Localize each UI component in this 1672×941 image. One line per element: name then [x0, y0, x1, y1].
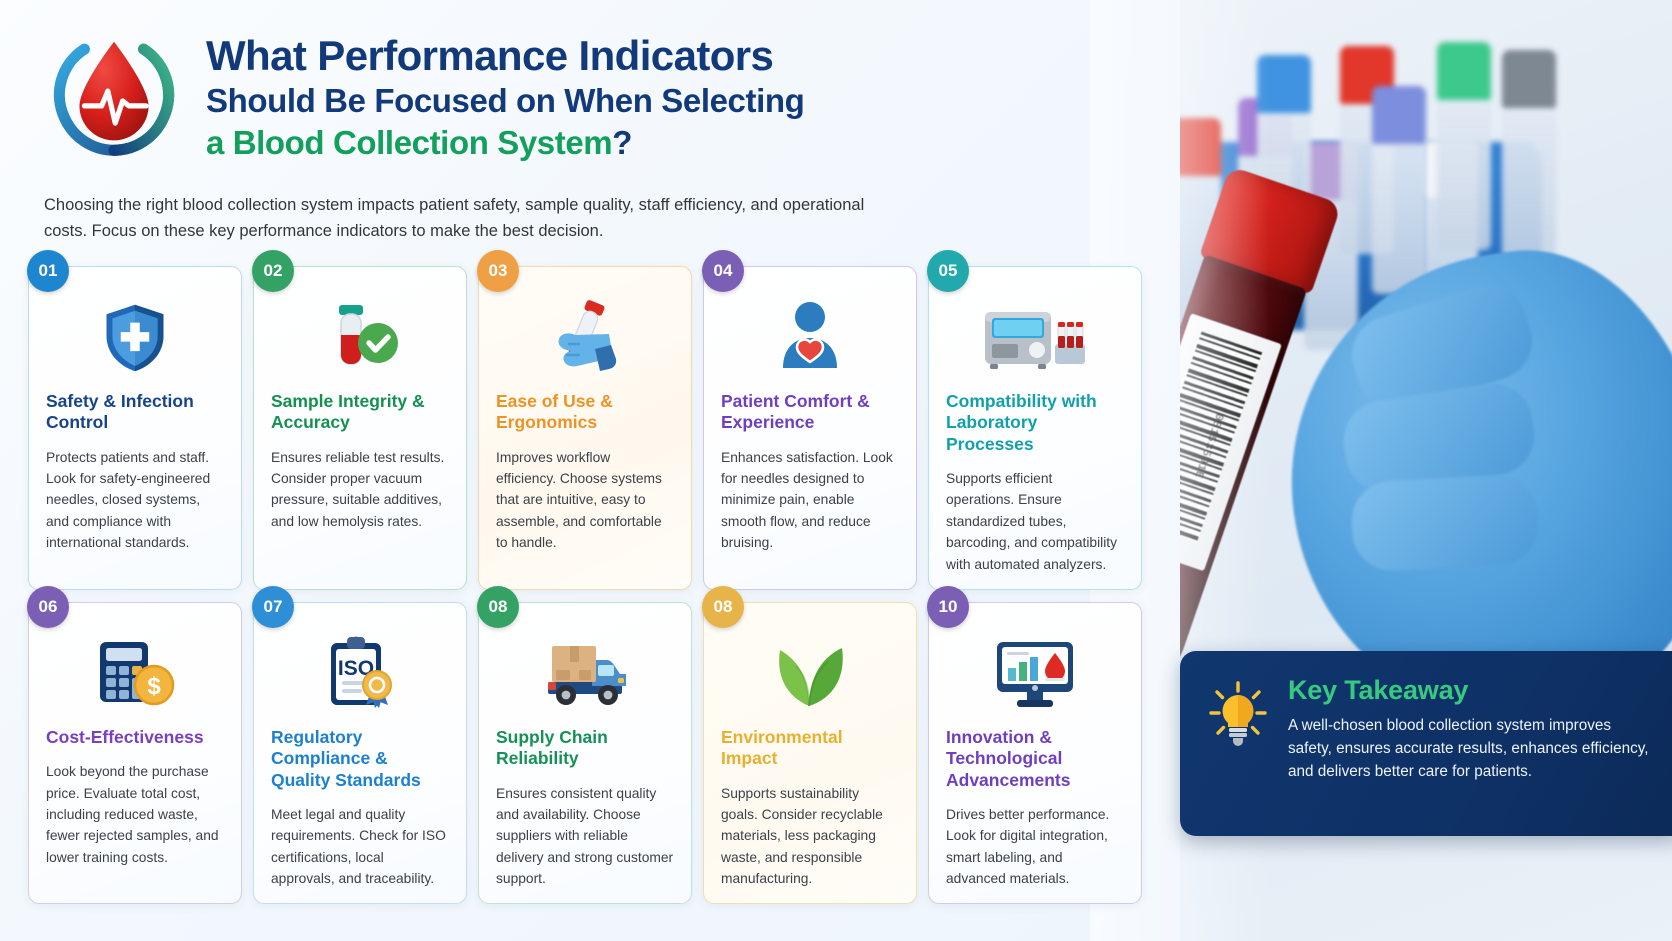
- card-badge-number: 10: [927, 586, 969, 628]
- indicator-row-1: 01 Safety & Infection Control Protects p…: [28, 266, 1153, 590]
- page-title-line1: What Performance Indicators: [206, 34, 804, 79]
- page-title-question-mark: ?: [612, 124, 632, 161]
- card-title: Sample Integrity & Accuracy: [271, 391, 449, 434]
- blood-drop-heartbeat-logo-icon: [40, 22, 188, 170]
- shield-medical-cross-icon: [46, 299, 224, 377]
- card-body: Drives better performance. Look for digi…: [946, 804, 1124, 890]
- svg-text:$: $: [147, 673, 161, 700]
- card-title: Compatibility with Laboratory Processes: [946, 391, 1124, 455]
- glove-finger-3: [1350, 473, 1540, 573]
- indicator-row-2: 06 $: [28, 602, 1153, 905]
- card-body: Supports efficient operations. Ensure st…: [946, 468, 1124, 575]
- indicator-card-09[interactable]: 08 Environmental Impact Supports sustain…: [703, 602, 917, 905]
- tube-periwinkle-1: [1372, 86, 1426, 294]
- card-badge-number: 05: [927, 250, 969, 292]
- lightbulb-icon: [1208, 675, 1270, 816]
- card-body: Enhances satisfaction. Look for needles …: [721, 447, 899, 554]
- lab-analyzer-tubes-icon: [946, 299, 1124, 377]
- card-title: Ease of Use & Ergonomics: [496, 391, 674, 434]
- monitor-chart-blooddrop-icon: [946, 635, 1124, 713]
- card-title: Safety & Infection Control: [46, 391, 224, 434]
- indicator-card-06[interactable]: 06 $: [28, 602, 242, 905]
- key-takeaway-body: A well-chosen blood collection system im…: [1288, 715, 1654, 784]
- card-body: Meet legal and quality requirements. Che…: [271, 804, 449, 890]
- card-body: Ensures reliable test results. Consider …: [271, 447, 449, 533]
- card-badge-number: 06: [27, 586, 69, 628]
- key-takeaway-heading: Key Takeaway: [1288, 675, 1654, 706]
- key-takeaway-text-block: Key Takeaway A well-chosen blood collect…: [1288, 675, 1654, 816]
- blood-tube-check-icon: [271, 299, 449, 377]
- card-body: Look beyond the purchase price. Evaluate…: [46, 761, 224, 868]
- person-heart-icon: [721, 299, 899, 377]
- gloved-hand-tube-icon: [496, 299, 674, 377]
- card-badge-number: 02: [252, 250, 294, 292]
- intro-paragraph: Choosing the right blood collection syst…: [44, 193, 904, 244]
- tube-green-1: [1437, 42, 1491, 250]
- key-takeaway-panel: Key Takeaway A well-chosen blood collect…: [1180, 651, 1672, 836]
- card-title: Innovation & Technological Advancements: [946, 727, 1124, 791]
- page-title-line3-green: a Blood Collection System: [206, 124, 612, 161]
- card-title: Environmental Impact: [721, 727, 899, 770]
- card-body: Ensures consistent quality and availabil…: [496, 783, 674, 890]
- indicator-card-08[interactable]: 08 Supply: [478, 602, 692, 905]
- card-badge-number: 04: [702, 250, 744, 292]
- indicator-card-10[interactable]: 10 Innova: [928, 602, 1142, 905]
- card-title: Cost-Effectiveness: [46, 727, 224, 748]
- card-body: Protects patients and staff. Look for sa…: [46, 447, 224, 554]
- card-badge-number: 07: [252, 586, 294, 628]
- indicator-card-02[interactable]: 02 Sample Integrity & Accuracy Ensures r…: [253, 266, 467, 590]
- tube-gray-1: [1502, 50, 1556, 258]
- header: What Performance Indicators Should Be Fo…: [40, 22, 940, 170]
- indicator-card-01[interactable]: 01 Safety & Infection Control Protects p…: [28, 266, 242, 590]
- page-title-line3: a Blood Collection System?: [206, 124, 804, 163]
- card-title: Regulatory Compliance & Quality Standard…: [271, 727, 449, 791]
- delivery-truck-box-icon: [496, 635, 674, 713]
- card-badge-number: 01: [27, 250, 69, 292]
- indicator-card-04[interactable]: 04 Patient Comfort & Experience Enhances…: [703, 266, 917, 590]
- card-title: Supply Chain Reliability: [496, 727, 674, 770]
- card-badge-number: 03: [477, 250, 519, 292]
- card-body: Supports sustainability goals. Consider …: [721, 783, 899, 890]
- page-title-line2: Should Be Focused on When Selecting: [206, 82, 804, 121]
- indicator-card-03[interactable]: 03 Ease of Use & Ergonomics Improv: [478, 266, 692, 590]
- iso-clipboard-badge-icon: ISO: [271, 635, 449, 713]
- card-badge-number: 08: [702, 586, 744, 628]
- card-body: Improves workflow efficiency. Choose sys…: [496, 447, 674, 554]
- indicator-card-05[interactable]: 05: [928, 266, 1142, 590]
- title-block: What Performance Indicators Should Be Fo…: [206, 22, 804, 170]
- green-leaves-icon: [721, 635, 899, 713]
- indicator-card-07[interactable]: 07 ISO Reg: [253, 602, 467, 905]
- infographic-content: What Performance Indicators Should Be Fo…: [0, 0, 1180, 941]
- indicator-grid: 01 Safety & Infection Control Protects p…: [28, 266, 1153, 904]
- calculator-coin-icon: $: [46, 635, 224, 713]
- card-title: Patient Comfort & Experience: [721, 391, 899, 434]
- card-badge-number: 08: [477, 586, 519, 628]
